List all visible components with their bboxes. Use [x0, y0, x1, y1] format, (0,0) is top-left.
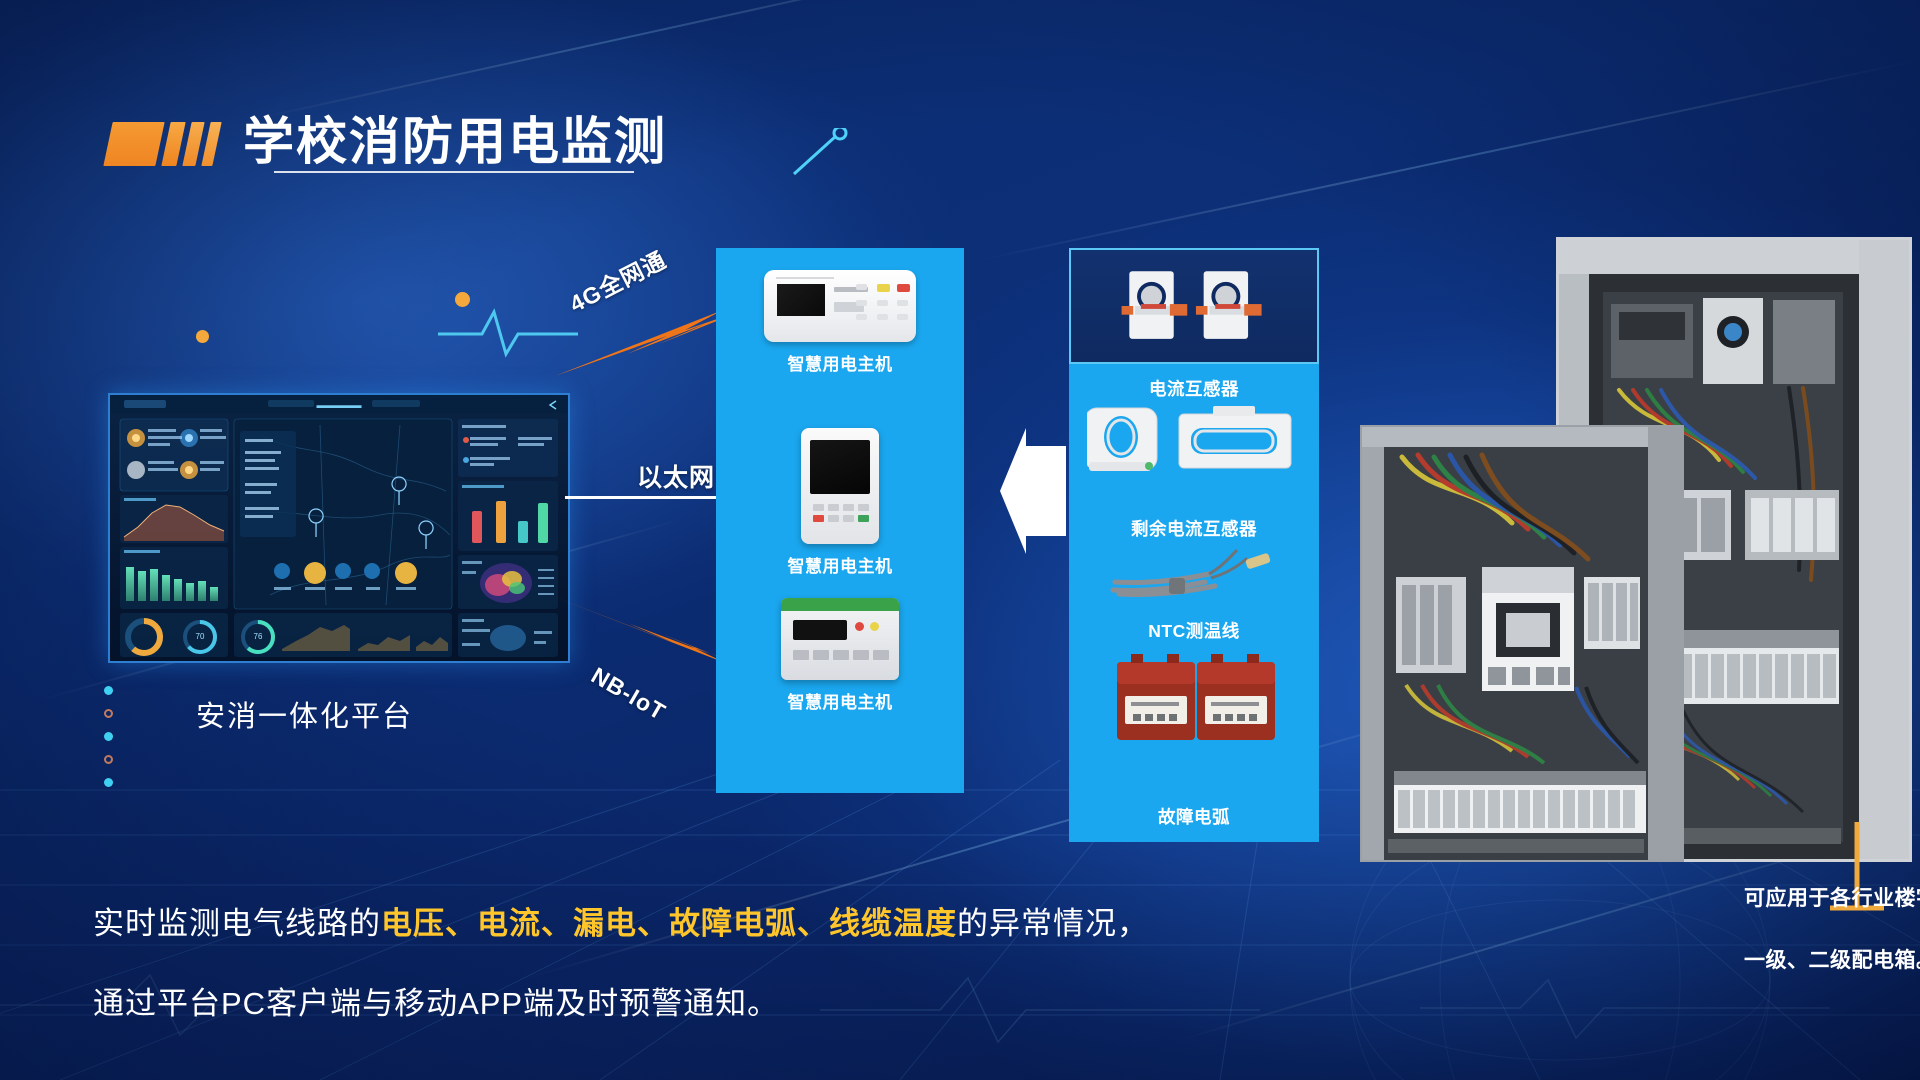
- din-rail-module-icon: [781, 598, 899, 680]
- device-item-1[interactable]: 智慧用电主机: [716, 270, 964, 375]
- sep-1: 、: [445, 906, 477, 941]
- highlight-current: 电流: [477, 906, 541, 941]
- handheld-terminal-icon: [801, 428, 879, 544]
- bottom-text-line-2: 通过平台PC客户端与移动APP端及时预警通知。: [93, 978, 779, 1023]
- device-label-2: 智慧用电主机: [716, 552, 964, 577]
- platform-label: 安消一体化平台: [196, 693, 413, 735]
- dashboard-screen-content: ▬▬▬▬▬: [110, 395, 568, 661]
- bottom-text-prefix: 实时监测电气线路的: [93, 906, 381, 941]
- device-item-3[interactable]: 智慧用电主机: [716, 598, 964, 713]
- right-caption-line-1: 可应用于各行业楼宇建筑内: [1744, 886, 1920, 912]
- highlight-leakage: 漏电: [573, 906, 637, 941]
- slide-canvas: 学校消防用电监测 ▬▬▬▬▬: [0, 0, 1920, 1080]
- sensor-label-2: 剩余电流互感器: [1069, 516, 1319, 541]
- ntc-temperature-cable-icon: [1105, 548, 1285, 604]
- title-underline: [274, 171, 634, 173]
- svg-text:70: 70: [196, 632, 205, 641]
- left-arrow-icon: [1000, 428, 1066, 554]
- smart-device-panel: 智慧用电主机 智慧用电主机 智慧用电主机: [716, 248, 964, 793]
- sensor-panel: 电流互感器 剩余电流互感器: [1069, 248, 1319, 842]
- sensor-label-1: 电流互感器: [1069, 376, 1319, 401]
- sep-4: 、: [797, 906, 829, 941]
- bottom-text-line-1: 实时监测电气线路的电压、电流、漏电、故障电弧、线缆温度的异常情况，: [93, 898, 1149, 943]
- svg-text:▬▬▬▬▬: ▬▬▬▬▬: [317, 400, 362, 410]
- svg-text:76: 76: [254, 632, 263, 641]
- highlight-arc-fault: 故障电弧: [669, 906, 797, 941]
- orange-bars-icon: [108, 118, 217, 166]
- sensor-label-3: NTC测温线: [1069, 618, 1319, 643]
- right-caption-line-2: 一级、二级配电箱。: [1744, 948, 1920, 974]
- accent-dot-2: [196, 330, 209, 343]
- device-label-3: 智慧用电主机: [716, 688, 964, 713]
- bottom-text-suffix: 的异常情况，: [957, 906, 1149, 941]
- highlight-voltage: 电压: [381, 906, 445, 941]
- dashboard-screen[interactable]: ▬▬▬▬▬: [108, 393, 570, 663]
- sensor-label-4: 故障电弧: [1069, 804, 1319, 829]
- link-label-ethernet: 以太网: [637, 458, 715, 494]
- device-label-1: 智慧用电主机: [716, 350, 964, 375]
- sep-2: 、: [541, 906, 573, 941]
- page-title-text: 学校消防用电监测: [243, 116, 667, 167]
- spark-line-icon: [790, 128, 850, 176]
- current-transformer-icon: [1069, 248, 1319, 364]
- right-caption: 可应用于各行业楼宇建筑内 一级、二级配电箱。: [1744, 886, 1920, 973]
- device-item-2[interactable]: 智慧用电主机: [716, 428, 964, 577]
- wall-host-icon: [764, 270, 916, 342]
- arc-fault-detector-icon: [1113, 652, 1279, 746]
- highlight-cable-temp: 线缆温度: [829, 906, 957, 941]
- distribution-cabinet-photo-front: [1360, 425, 1684, 862]
- page-title: 学校消防用电监测: [108, 116, 667, 167]
- residual-current-transformer-icon: [1087, 400, 1301, 478]
- sep-3: 、: [637, 906, 669, 941]
- left-dots-decoration: [104, 686, 113, 787]
